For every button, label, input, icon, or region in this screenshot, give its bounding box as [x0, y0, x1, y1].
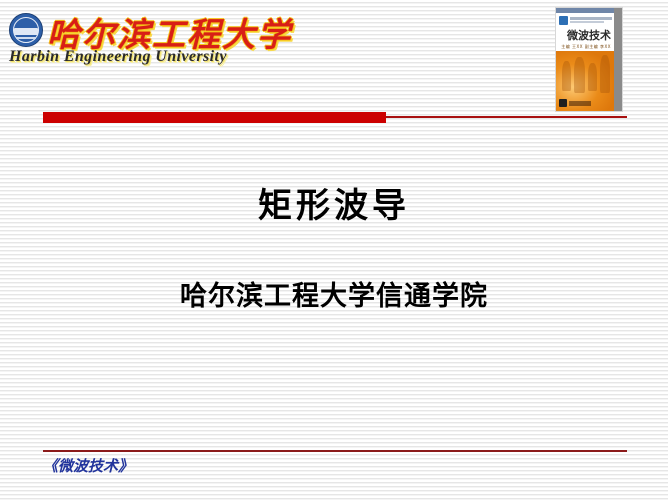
- presentation-slide: 哈尔滨工程大学 Harbin Engineering University 微波…: [0, 0, 668, 502]
- book-top-band: [556, 8, 614, 13]
- book-authors-text: 主编 王XX 副主编 李XX: [556, 44, 611, 50]
- textbook-cover-icon: 微波技术 主编 王XX 副主编 李XX: [556, 8, 622, 111]
- seal-band: [14, 28, 38, 35]
- university-name-english: Harbin Engineering University: [9, 48, 227, 66]
- book-title-text: 微波技术: [556, 30, 611, 42]
- footer-divider-line: [43, 450, 627, 452]
- publisher-name-block: [569, 101, 591, 106]
- footer-course-label: 《微波技术》: [43, 455, 133, 476]
- cover-figure-2: [574, 57, 585, 93]
- publisher-logo-icon: [559, 99, 567, 107]
- book-cover-artwork: [556, 51, 614, 111]
- book-series-line-1: [570, 17, 612, 20]
- book-spine: [614, 8, 622, 111]
- cover-figure-4: [600, 55, 610, 93]
- header-divider-thin-line: [386, 116, 627, 118]
- slide-subtitle: 哈尔滨工程大学信通学院: [0, 274, 668, 313]
- seal-band-line: [16, 37, 36, 39]
- book-front-face: 微波技术 主编 王XX 副主编 李XX: [556, 8, 614, 111]
- university-seal-icon: [9, 13, 43, 47]
- book-series-line-2: [570, 21, 604, 23]
- slide-title: 矩形波导: [0, 178, 668, 227]
- header-divider-thick-bar: [43, 112, 386, 123]
- cover-figure-1: [562, 61, 571, 91]
- publisher-badge-icon: [559, 16, 568, 25]
- cover-figure-3: [588, 63, 597, 91]
